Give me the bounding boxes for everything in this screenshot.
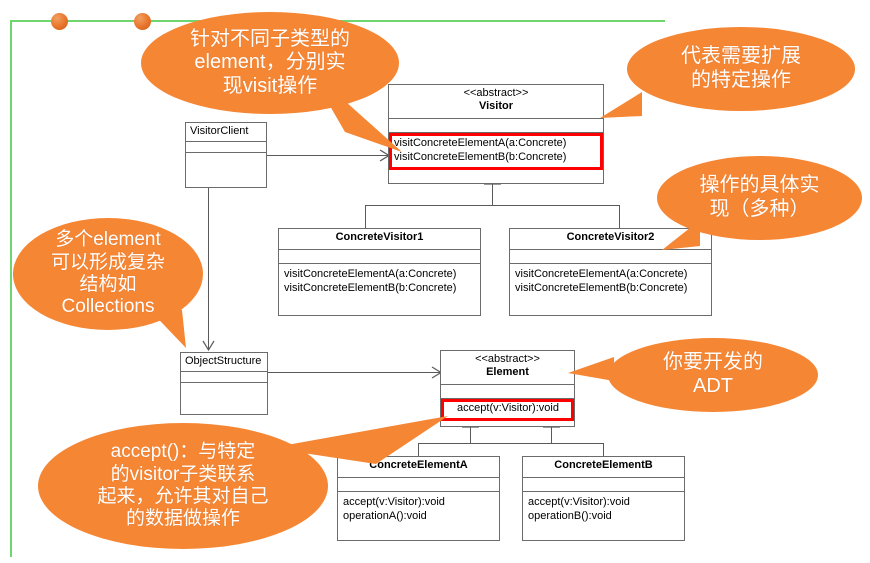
operation-row: accept(v:Visitor):void [446,401,570,415]
class-attributes-concrete-visitor1 [279,250,480,264]
callout-accept-desc: accept()：与特定 的visitor子类联系 起来，允许其对自己 的数据做… [38,423,328,549]
bullet-dot-first [51,13,68,30]
operation-row: visitConcreteElementB(b:Concrete) [394,150,599,164]
callout-text: accept()：与特定 的visitor子类联系 起来，允许其对自己 的数据做… [38,423,328,549]
operation-row: accept(v:Visitor):void [528,495,680,509]
callout-text: 操作的具体实 现（多种） [657,156,862,240]
class-operations-concrete-element-b: accept(v:Visitor):void operationB():void [523,492,684,526]
connector-element-bus-stub-a [470,426,471,443]
class-operations-element: accept(v:Visitor):void [441,399,574,418]
operation-row: visitConcreteElementB(b:Concrete) [284,281,476,295]
callout-text: 针对不同子类型的 element，分别实 现visit操作 [141,12,399,114]
connector-visitor-inherit-bus [365,205,619,206]
class-operations-visitor: visitConcreteElementA(a:Concrete) visitC… [389,133,603,167]
callout-text: 多个element 可以形成复杂 结构如 Collections [13,218,203,330]
operation-row: visitConcreteElementA(a:Concrete) [394,136,599,150]
connector-visitor-bus-stub [492,183,493,205]
connector-element-bus-stub-b [551,426,552,443]
class-header-concrete-element-b: ConcreteElementB [523,457,684,478]
class-box-visitor[interactable]: <<abstract>> Visitor visitConcreteElemen… [388,84,604,184]
class-box-element[interactable]: <<abstract>> Element accept(v:Visitor):v… [440,350,575,427]
connector-cv2-riser [619,205,620,228]
callout-multi-element: 多个element 可以形成复杂 结构如 Collections [13,218,203,330]
arrowhead-visitorclient-to-objectstructure [201,340,216,352]
class-box-concrete-visitor1[interactable]: ConcreteVisitor1 visitConcreteElementA(a… [278,228,481,316]
callout-concrete-impl: 操作的具体实 现（多种） [657,156,862,240]
operation-row: operationA():void [343,509,495,523]
operation-row: operationB():void [528,509,680,523]
callout-text: 你要开发的 ADT [608,338,818,412]
class-operations-concrete-element-a: accept(v:Visitor):void operationA():void [338,492,499,526]
class-operations-concrete-visitor1: visitConcreteElementA(a:Concrete) visitC… [279,264,480,298]
class-attributes-concrete-element-b [523,478,684,492]
class-header-element: <<abstract>> Element [441,351,574,385]
class-name-element: Element [486,366,529,378]
class-name-visitor-client: VisitorClient [190,125,249,137]
class-box-visitor-client[interactable]: VisitorClient [185,122,267,188]
connector-cv1-riser [365,205,366,228]
class-header-concrete-visitor1: ConcreteVisitor1 [279,229,480,250]
class-box-concrete-element-b[interactable]: ConcreteElementB accept(v:Visitor):void … [522,456,685,541]
class-attributes-visitor [389,119,603,133]
class-attributes-element [441,385,574,399]
callout-visit-impl: 针对不同子类型的 element，分别实 现visit操作 [141,12,399,114]
class-attributes-object-structure [181,372,267,383]
frame-left-line [10,20,12,557]
class-name-concrete-visitor1: ConcreteVisitor1 [336,231,424,243]
connector-objectstructure-to-element [268,372,440,373]
class-stereotype-element: <<abstract>> [445,353,570,366]
operation-row: visitConcreteElementA(a:Concrete) [515,267,707,281]
operation-row: visitConcreteElementA(a:Concrete) [284,267,476,281]
callout-your-adt: 你要开发的 ADT [608,338,818,412]
class-header-visitor-client: VisitorClient [186,123,266,142]
class-name-visitor: Visitor [479,100,513,112]
callout-extend-op: 代表需要扩展 的特定操作 [627,27,855,111]
class-name-concrete-element-b: ConcreteElementB [554,459,652,471]
class-operations-concrete-visitor2: visitConcreteElementA(a:Concrete) visitC… [510,264,711,298]
class-name-concrete-visitor2: ConcreteVisitor2 [567,231,655,243]
class-stereotype-visitor: <<abstract>> [393,87,599,100]
operation-row: accept(v:Visitor):void [343,495,495,509]
callout-text: 代表需要扩展 的特定操作 [627,27,855,111]
class-attributes-visitor-client [186,142,266,153]
class-header-visitor: <<abstract>> Visitor [389,85,603,119]
slide-canvas: <<abstract>> Visitor visitConcreteElemen… [0,0,870,563]
class-attributes-concrete-element-a [338,478,499,492]
operation-row: visitConcreteElementB(b:Concrete) [515,281,707,295]
connector-ceb-riser [603,443,604,456]
class-box-object-structure[interactable]: ObjectStructure [180,352,268,415]
connector-visitorclient-to-objectstructure [208,188,209,350]
